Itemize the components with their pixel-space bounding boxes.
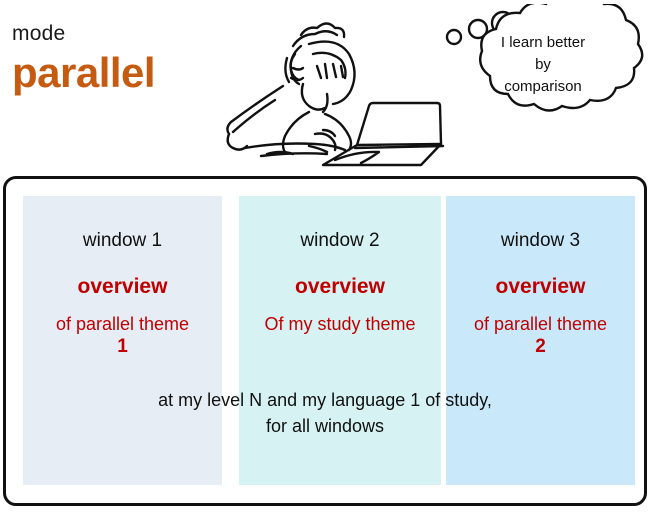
bubble-line-1: I learn better: [463, 32, 623, 54]
mode-label: mode: [12, 22, 232, 45]
window-panel-3-subtitle: of parallel theme 2: [446, 313, 635, 359]
window-panel-1-title: window 1: [23, 230, 222, 253]
window-panel-2-title: window 2: [239, 230, 441, 253]
window-panel-3[interactable]: window 3 overview of parallel theme 2: [446, 196, 635, 485]
bubble-line-3: comparison: [463, 76, 623, 98]
person-studying-at-laptop-icon: [205, 2, 455, 172]
window-panel-2-sub-text: Of my study theme: [264, 314, 415, 334]
thought-bubble-text: I learn better by comparison: [463, 32, 623, 97]
window-panel-2-subtitle: Of my study theme: [239, 313, 441, 336]
window-panel-2[interactable]: window 2 overview Of my study theme: [239, 196, 441, 485]
bubble-line-2: by: [463, 54, 623, 76]
window-panel-3-sub-number: 2: [450, 335, 631, 359]
window-panels: window 1 overview of parallel theme 1 wi…: [6, 179, 644, 503]
slide-canvas: mode parallel: [0, 0, 656, 514]
window-panel-1-heading: overview: [23, 274, 222, 299]
mode-header: mode parallel: [12, 22, 232, 95]
window-panel-3-heading: overview: [446, 274, 635, 299]
windows-container: window 1 overview of parallel theme 1 wi…: [3, 176, 647, 506]
window-panel-3-title: window 3: [446, 230, 635, 253]
window-panel-2-heading: overview: [239, 274, 441, 299]
window-panel-1-subtitle: of parallel theme 1: [23, 313, 222, 359]
mode-value: parallel: [12, 51, 232, 95]
window-panel-3-sub-text: of parallel theme: [474, 314, 607, 334]
window-panel-1-sub-number: 1: [27, 335, 218, 359]
window-panel-1-sub-text: of parallel theme: [56, 314, 189, 334]
window-panel-1[interactable]: window 1 overview of parallel theme 1: [23, 196, 222, 485]
